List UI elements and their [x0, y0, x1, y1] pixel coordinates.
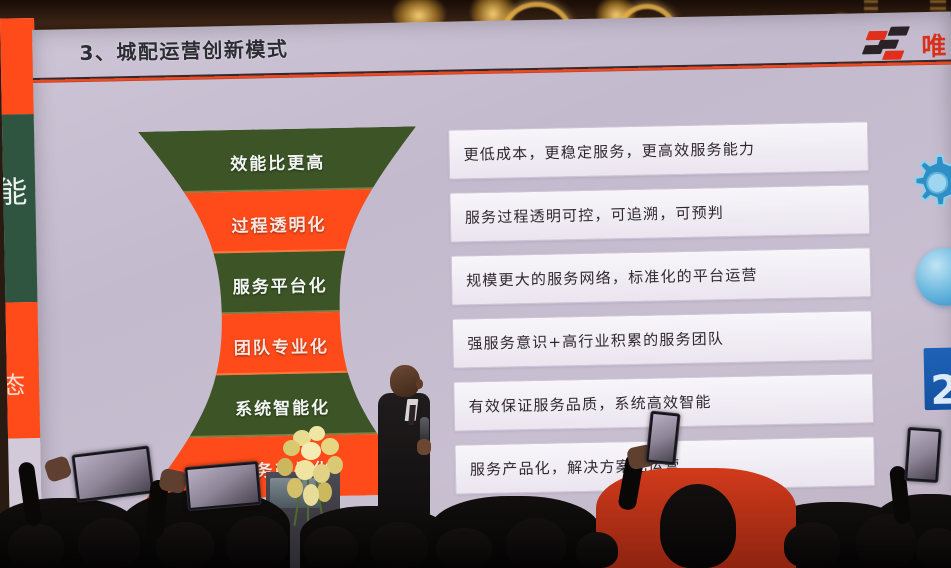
- audience-head: [304, 526, 358, 568]
- audience-head: [370, 522, 428, 568]
- audience-head: [436, 528, 492, 568]
- left-screen-text-2: 态: [1, 374, 44, 399]
- audience-head: [8, 524, 64, 568]
- description-text-3: 规模更大的服务网络，标准化的平台运营: [466, 264, 758, 291]
- description-box[interactable]: 强服务意识+高行业积累的服务团队: [452, 310, 873, 368]
- audience-head: [916, 528, 951, 568]
- audience-head: [660, 484, 736, 568]
- audience-head: [576, 532, 618, 568]
- funnel-label-3: 服务平台化: [115, 269, 445, 301]
- funnel-label-1: 效能比更高: [112, 146, 442, 178]
- audience-head: [226, 516, 288, 568]
- phone-recording[interactable]: [71, 445, 154, 502]
- logo-block: [866, 31, 888, 40]
- phone-recording[interactable]: [184, 461, 262, 511]
- presenter-ear: [416, 379, 423, 389]
- audience-head: [156, 522, 214, 568]
- brand-blocks-logo: 唯: [861, 24, 950, 60]
- description-box[interactable]: 更低成本，更稳定服务，更高效服务能力: [448, 121, 869, 179]
- logo-block: [882, 50, 904, 59]
- audience-head: [506, 518, 566, 568]
- logo-block: [862, 45, 884, 54]
- audience-head: [78, 518, 140, 568]
- phone-screen: [907, 430, 938, 480]
- logo-wordmark: 唯: [921, 27, 951, 64]
- description-box[interactable]: 规模更大的服务网络，标准化的平台运营: [451, 247, 872, 305]
- number-badge: 2: [924, 347, 951, 410]
- description-box[interactable]: 服务过程透明可控，可追溯，可预判: [449, 184, 870, 242]
- phone-recording[interactable]: [904, 427, 942, 483]
- hand: [43, 455, 73, 483]
- funnel-label-2: 过程透明化: [114, 208, 444, 240]
- phone-recording[interactable]: [645, 411, 680, 466]
- conference-photo: 能 态 3、城配运营创新模式 唯: [0, 0, 951, 568]
- phone-screen: [75, 449, 152, 499]
- phone-screen: [187, 464, 258, 508]
- logo-block: [887, 26, 909, 35]
- funnel-row[interactable]: 过程透明化: [113, 188, 444, 256]
- description-text-1: 更低成本，更稳定服务，更高效服务能力: [463, 138, 755, 165]
- description-text-4: 强服务意识+高行业积累的服务团队: [467, 328, 724, 354]
- audience-head: [784, 522, 840, 568]
- phone-screen: [649, 414, 678, 462]
- gear-icon: [906, 152, 951, 215]
- circle-icon: [916, 247, 951, 306]
- number-badge-text: 2: [930, 367, 951, 414]
- audience-silhouettes: [0, 418, 951, 568]
- funnel-row[interactable]: 效能比更高: [112, 126, 443, 195]
- page-title: 3、城配运营创新模式: [79, 33, 288, 66]
- description-text-2: 服务过程透明可控，可追溯，可预判: [465, 202, 725, 228]
- funnel-label-4: 团队专业化: [116, 330, 446, 362]
- funnel-row[interactable]: 服务平台化: [115, 249, 446, 317]
